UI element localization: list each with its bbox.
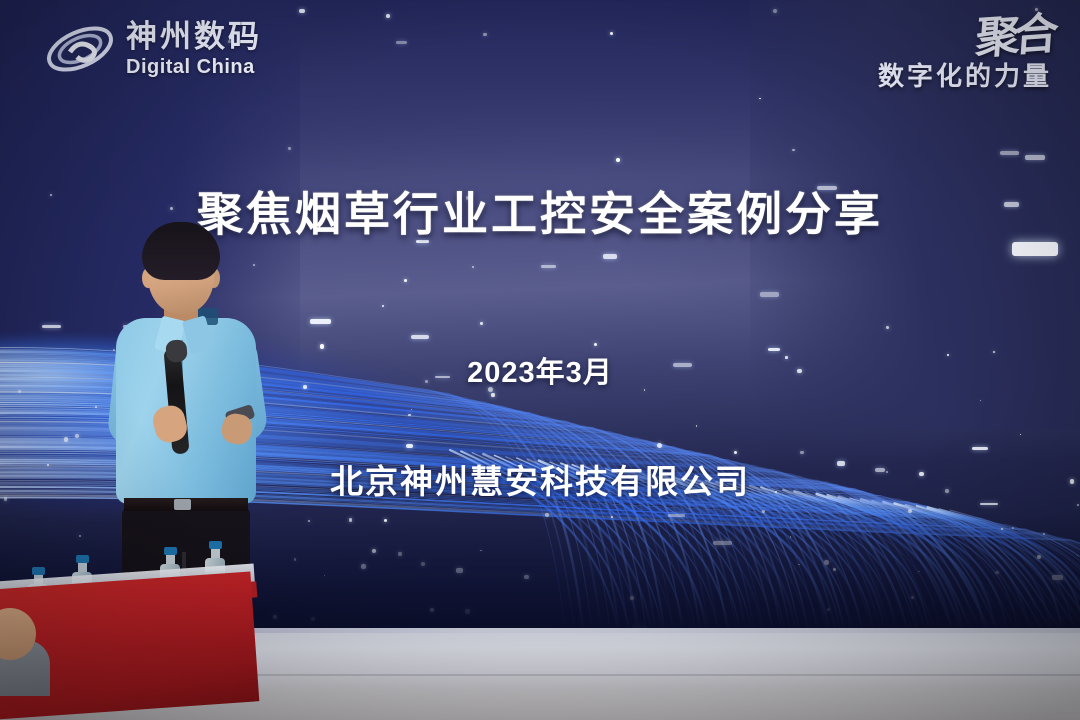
light-dot-particle xyxy=(75,434,79,438)
light-dot-particle xyxy=(386,14,390,18)
light-dot-particle xyxy=(792,149,794,151)
light-dot-particle xyxy=(320,344,325,349)
light-dot-particle xyxy=(472,266,474,268)
light-dash-particle xyxy=(1025,155,1045,159)
light-dash-particle xyxy=(42,325,62,328)
light-dot-particle xyxy=(800,451,803,454)
light-dot-particle xyxy=(404,279,407,282)
swirl-icon xyxy=(44,18,116,80)
light-dot-particle xyxy=(408,414,410,416)
light-dot-particle xyxy=(382,305,384,307)
bottle-cap xyxy=(209,541,222,549)
light-dash-particle xyxy=(406,444,413,447)
digital-china-english: Digital China xyxy=(126,57,262,77)
light-dot-particle xyxy=(610,32,613,35)
microphone-head-icon xyxy=(165,339,188,363)
light-dot-particle xyxy=(480,322,482,324)
bottle-neck xyxy=(211,549,220,558)
screen-light-bar xyxy=(1012,242,1058,256)
light-dot-particle xyxy=(1077,504,1078,505)
bottle-cap xyxy=(76,555,89,563)
digital-china-logo: 神州数码 Digital China xyxy=(44,18,262,80)
screenshot-stage: 神州数码 Digital China 聚合 数字化的力量 聚焦烟草行业工控安全案… xyxy=(0,0,1080,720)
light-dash-particle xyxy=(541,265,556,268)
light-dash-particle xyxy=(1000,151,1018,155)
light-dash-particle xyxy=(760,292,779,296)
light-dot-particle xyxy=(64,437,69,442)
juhe-tagline: 数字化的力量 xyxy=(878,56,1052,93)
light-dash-particle xyxy=(310,319,331,324)
digital-china-chinese: 神州数码 xyxy=(126,21,262,52)
light-dash-particle xyxy=(980,503,997,505)
light-dot-particle xyxy=(980,400,981,401)
light-dot-particle xyxy=(773,9,777,13)
light-dash-particle xyxy=(603,254,617,259)
juhe-event-logo: 聚合 数字化的力量 xyxy=(878,16,1052,93)
bottle-cap xyxy=(164,547,177,555)
light-dot-particle xyxy=(886,326,889,329)
light-dash-particle xyxy=(411,335,429,338)
bottle-neck xyxy=(78,563,87,572)
bottle-neck xyxy=(166,555,175,564)
light-dash-particle xyxy=(972,447,988,451)
speaker-belt-buckle xyxy=(174,499,191,510)
light-dot-particle xyxy=(483,33,486,36)
light-dash-particle xyxy=(396,41,407,44)
speaker-hair xyxy=(142,222,220,280)
bottle-cap xyxy=(32,567,45,575)
juhe-mark: 聚合 xyxy=(974,13,1054,60)
light-dot-particle xyxy=(491,393,494,396)
digital-china-wordmark: 神州数码 Digital China xyxy=(126,21,262,77)
